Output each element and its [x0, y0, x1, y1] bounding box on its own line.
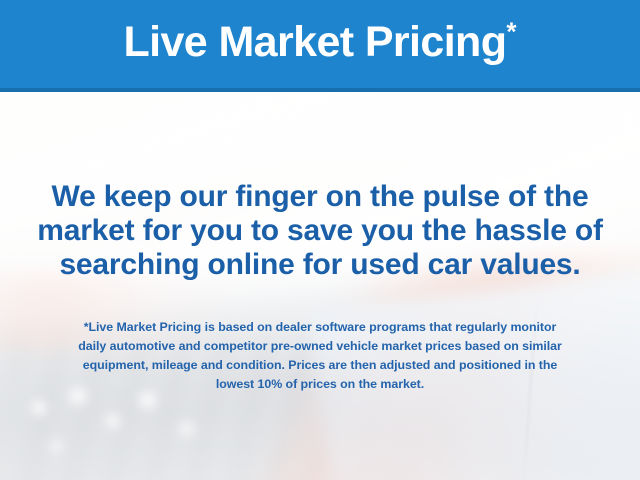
headline-block: We keep our finger on the pulse of the m… — [0, 180, 640, 282]
footnote-line-4: lowest 10% of prices on the market. — [20, 375, 620, 394]
headline-line-2: market for you to save you the hassle of — [0, 214, 640, 248]
headline-line-1: We keep our finger on the pulse of the — [0, 180, 640, 214]
footnote-line-2: daily automotive and competitor pre-owne… — [20, 337, 620, 356]
headline-line-3: searching online for used car values. — [0, 248, 640, 282]
footnote-line-3: equipment, mileage and condition. Prices… — [20, 356, 620, 375]
live-market-pricing-graphic: Live Market Pricing* We keep our finger … — [0, 0, 640, 480]
banner-title: Live Market Pricing* — [123, 21, 516, 67]
banner-title-text: Live Market Pricing — [123, 18, 506, 66]
footnote-line-1: *Live Market Pricing is based on dealer … — [20, 318, 620, 337]
content-area: We keep our finger on the pulse of the m… — [0, 92, 640, 480]
footnote-block: *Live Market Pricing is based on dealer … — [20, 318, 620, 394]
header-banner: Live Market Pricing* — [0, 0, 640, 92]
banner-title-asterisk: * — [506, 17, 516, 47]
